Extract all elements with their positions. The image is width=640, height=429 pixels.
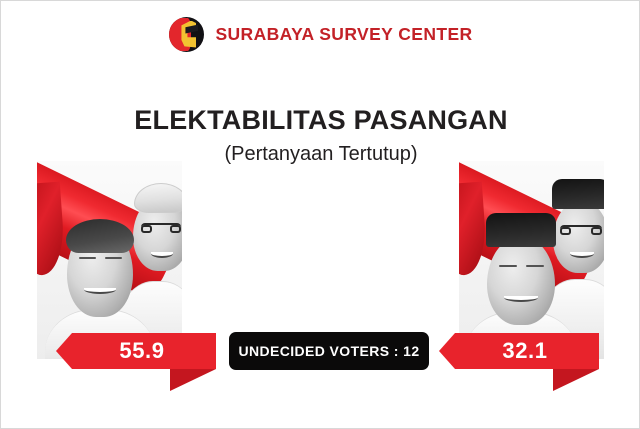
undecided-voters-label: UNDECIDED VOTERS : 12 bbox=[238, 343, 419, 359]
poster-header: SURABAYA SURVEY CENTER bbox=[1, 13, 640, 55]
portrait-front-right-brow-b bbox=[526, 265, 544, 267]
portrait-front-right-head bbox=[487, 237, 555, 325]
result-value-left: 55.9 bbox=[107, 338, 164, 364]
portrait-front-right-mouth bbox=[504, 293, 538, 302]
portrait-front-right-songkok bbox=[486, 213, 556, 247]
result-banner-fold-right bbox=[553, 369, 599, 391]
candidate-card-right bbox=[459, 161, 604, 359]
portrait-front-right-brow-a bbox=[499, 265, 517, 267]
portrait-back-left-kopiah bbox=[134, 183, 182, 213]
page-title: ELEKTABILITAS PASANGAN bbox=[1, 105, 640, 136]
portrait-back-right-glasses bbox=[560, 225, 602, 236]
portrait-back-right-songkok bbox=[552, 179, 604, 209]
portrait-front-left-brow-a bbox=[79, 257, 96, 259]
result-banner-left: 55.9 bbox=[56, 333, 216, 369]
infographic-poster: SURABAYA SURVEY CENTER ELEKTABILITAS PAS… bbox=[0, 0, 640, 429]
portrait-back-left-glasses bbox=[141, 223, 181, 234]
surabaya-survey-center-logo-icon bbox=[169, 17, 204, 52]
candidate-card-left bbox=[37, 161, 182, 359]
portrait-back-left-mouth bbox=[151, 249, 173, 258]
undecided-voters-box: UNDECIDED VOTERS : 12 bbox=[229, 332, 429, 370]
result-banner-right: 32.1 bbox=[439, 333, 599, 369]
brand-name: SURABAYA SURVEY CENTER bbox=[215, 24, 472, 45]
result-value-right: 32.1 bbox=[490, 338, 547, 364]
portrait-front-left-mouth bbox=[84, 285, 116, 294]
portrait-front-left-brow-b bbox=[105, 257, 122, 259]
portrait-front-left-hair bbox=[66, 219, 134, 253]
portrait-back-right-mouth bbox=[570, 249, 594, 258]
result-banner-fold-left bbox=[170, 369, 216, 391]
portrait-back-right-head bbox=[553, 201, 604, 273]
